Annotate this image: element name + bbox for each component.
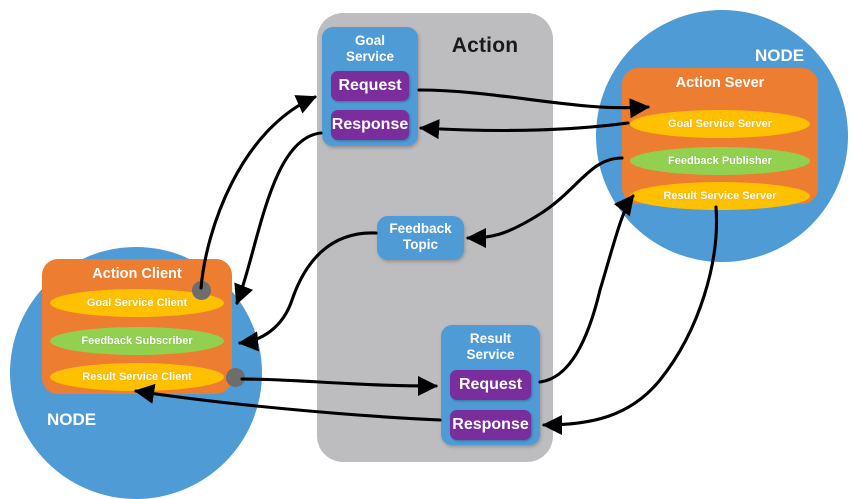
goal-service-title: Goal Service [322,27,418,65]
feedback-subscriber-pill[interactable]: Feedback Subscriber [50,327,224,355]
result-service-request[interactable]: Request [450,370,531,400]
goal-service-response[interactable]: Response [331,110,409,140]
feedback-topic-box[interactable]: Feedback Topic [377,216,464,260]
result-service-response[interactable]: Response [450,410,531,440]
feedback-topic-title: Feedback Topic [377,216,464,253]
result-service-title-line1: Result [470,331,511,346]
result-service-box: Result Service Request Response [441,325,540,445]
result-service-client-pill[interactable]: Result Service Client [50,363,224,391]
goal-service-server-pill[interactable]: Goal Service Server [630,110,810,138]
feedback-topic-title-line2: Topic [403,237,438,252]
result-service-server-pill[interactable]: Result Service Server [630,182,810,210]
goal-service-box: Goal Service Request Response [322,27,418,146]
goal-service-request[interactable]: Request [331,71,409,101]
arrow-result-request-to-server [540,196,633,382]
result-client-connector-dot [226,368,245,387]
node-server-label: NODE [755,46,804,66]
node-client-label: NODE [47,410,96,430]
feedback-publisher-pill[interactable]: Feedback Publisher [630,147,810,175]
result-service-title: Result Service [441,325,540,363]
action-server-box: Action Sever Goal Service Server Feedbac… [622,68,818,204]
action-group-title: Action [420,34,550,58]
diagram-canvas: Action NODE Action Client Goal Service C… [0,0,854,480]
result-service-title-line2: Service [466,347,514,362]
action-client-box: Action Client Goal Service Client Feedba… [42,259,232,394]
arrow-goal-response-to-client [237,133,321,303]
goal-service-title-line1: Goal [355,33,385,48]
action-server-title: Action Sever [622,68,818,91]
goal-client-connector-dot [192,281,211,300]
goal-service-title-line2: Service [346,49,394,64]
action-client-title: Action Client [42,259,232,282]
feedback-topic-title-line1: Feedback [389,221,451,236]
